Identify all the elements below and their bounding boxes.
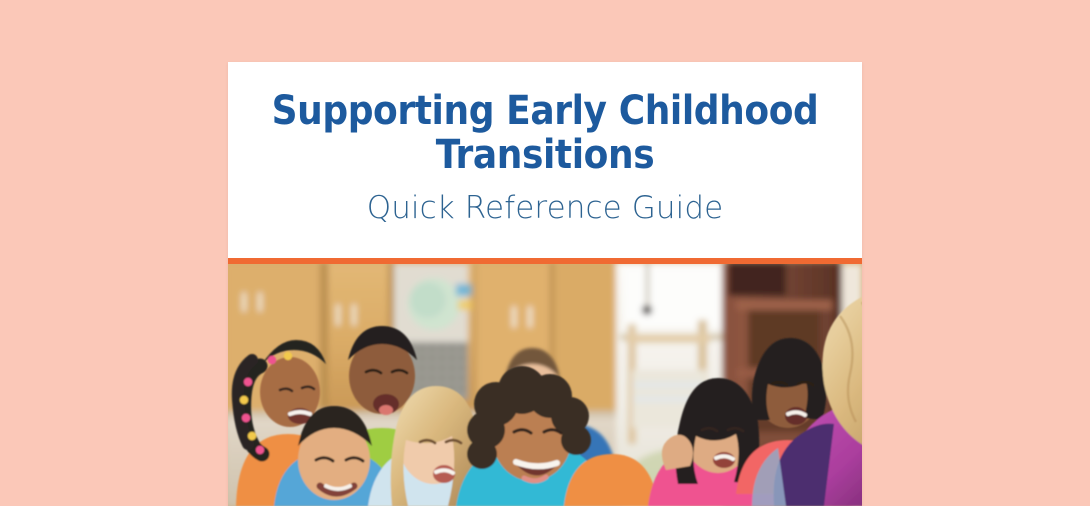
page-subtitle: Quick Reference Guide (256, 177, 834, 226)
cover-photo: Group of young children sitting on a cla… (228, 264, 862, 506)
screenshot-viewport: Supporting Early Childhood Transitions Q… (0, 0, 1090, 506)
title-block: Supporting Early Childhood Transitions Q… (228, 62, 862, 258)
document-cover-card: Supporting Early Childhood Transitions Q… (228, 62, 862, 506)
page-title: Supporting Early Childhood Transitions (256, 62, 834, 177)
